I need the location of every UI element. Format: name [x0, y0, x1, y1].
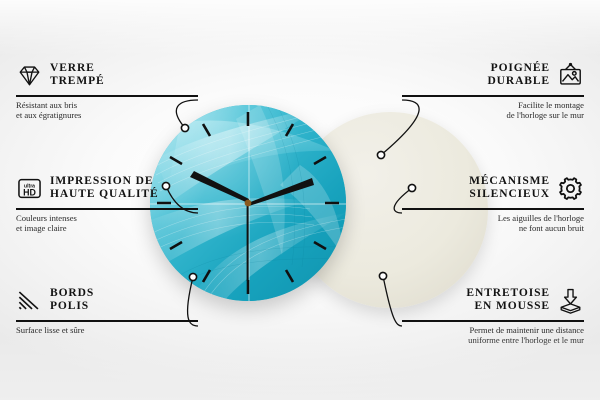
foam-spacer-icon	[557, 287, 584, 314]
callout-verre-trempe: VERRE TREMPÉ Résistant aux bris et aux é…	[16, 56, 198, 121]
callout-title-poignee: POIGNÉE DURABLE	[487, 62, 550, 89]
callout-rule	[402, 320, 584, 322]
callout-title-verre: VERRE TREMPÉ	[50, 62, 105, 89]
callout-title-entretoise: ENTRETOISE EN MOUSSE	[466, 287, 550, 314]
ultra-hd-icon: ultra HD	[16, 175, 43, 202]
callout-bords-polis: BORDS POLIS Surface lisse et sûre	[16, 281, 198, 335]
callout-mecanisme-silencieux: MÉCANISME SILENCIEUX Les aiguilles de l'…	[402, 169, 584, 234]
callout-impression-haute-qualite: ultra HD IMPRESSION DE HAUTE QUALITÉ Cou…	[16, 169, 198, 234]
callout-poignee-durable: POIGNÉE DURABLE Facilite le montage de l…	[402, 56, 584, 121]
svg-text:HD: HD	[23, 187, 36, 197]
infographic-canvas: VERRE TREMPÉ Résistant aux bris et aux é…	[0, 0, 600, 400]
callout-desc-mecanisme: Les aiguilles de l'horloge ne font aucun…	[402, 213, 584, 234]
diamond-icon	[16, 62, 43, 89]
callout-desc-bords: Surface lisse et sûre	[16, 325, 198, 336]
gear-icon	[557, 175, 584, 202]
callout-rule	[16, 320, 198, 322]
callout-desc-poignee: Facilite le montage de l'horloge sur le …	[402, 100, 584, 121]
callout-rule	[16, 208, 198, 210]
polished-edges-icon	[16, 287, 43, 314]
callout-rule	[16, 95, 198, 97]
callout-title-mecanisme: MÉCANISME SILENCIEUX	[469, 175, 550, 202]
callout-desc-verre: Résistant aux bris et aux égratignures	[16, 100, 198, 121]
callout-title-bords: BORDS POLIS	[50, 287, 94, 314]
callout-rule	[402, 95, 584, 97]
callout-desc-impression: Couleurs intenses et image claire	[16, 213, 198, 234]
callout-rule	[402, 208, 584, 210]
hanging-frame-icon	[557, 62, 584, 89]
callout-desc-entretoise: Permet de maintenir une distance uniform…	[402, 325, 584, 346]
callout-entretoise-en-mousse: ENTRETOISE EN MOUSSE Permet de maintenir…	[402, 281, 584, 346]
callout-title-impression: IMPRESSION DE HAUTE QUALITÉ	[50, 175, 159, 202]
